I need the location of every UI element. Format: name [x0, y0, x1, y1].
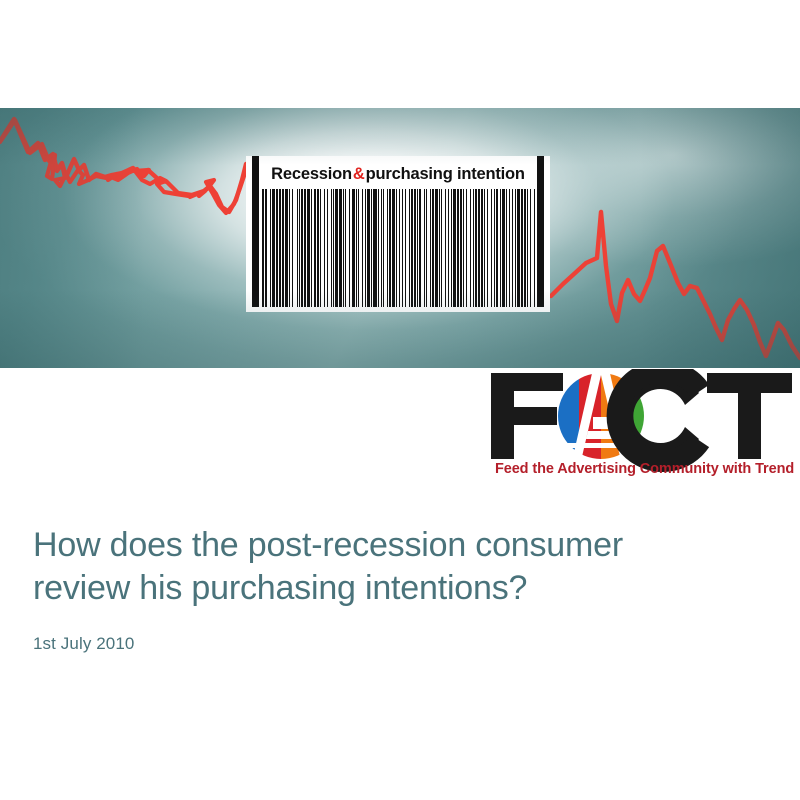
title-banner-image: Recession & purchasing intention: [0, 108, 800, 368]
barcode-bars: [246, 189, 550, 307]
trend-line-left: [0, 120, 246, 213]
logo-letter-t: [707, 373, 792, 459]
barcode-caption-prefix: Recession: [271, 165, 352, 184]
logo-letter-f: [491, 373, 563, 459]
emblem-a-bowl: [593, 417, 609, 429]
trend-line-left-main: [2, 119, 246, 212]
logo-tagline: Feed the Advertising Community with Tren…: [495, 461, 794, 477]
trend-line-right: [551, 212, 800, 358]
barcode-guard-left: [252, 156, 259, 307]
fact-logo: Feed the Advertising Community with Tren…: [489, 369, 794, 477]
page-date: 1st July 2010: [33, 634, 773, 654]
title-block: How does the post-recession consumer rev…: [33, 524, 773, 654]
barcode-caption: Recession & purchasing intention: [246, 159, 550, 189]
barcode-guard-right: [537, 156, 544, 307]
barcode-caption-suffix: purchasing intention: [366, 165, 525, 184]
page-title: How does the post-recession consumer rev…: [33, 524, 773, 610]
barcode-panel: Recession & purchasing intention: [246, 156, 550, 312]
barcode-caption-ampersand: &: [352, 165, 366, 184]
